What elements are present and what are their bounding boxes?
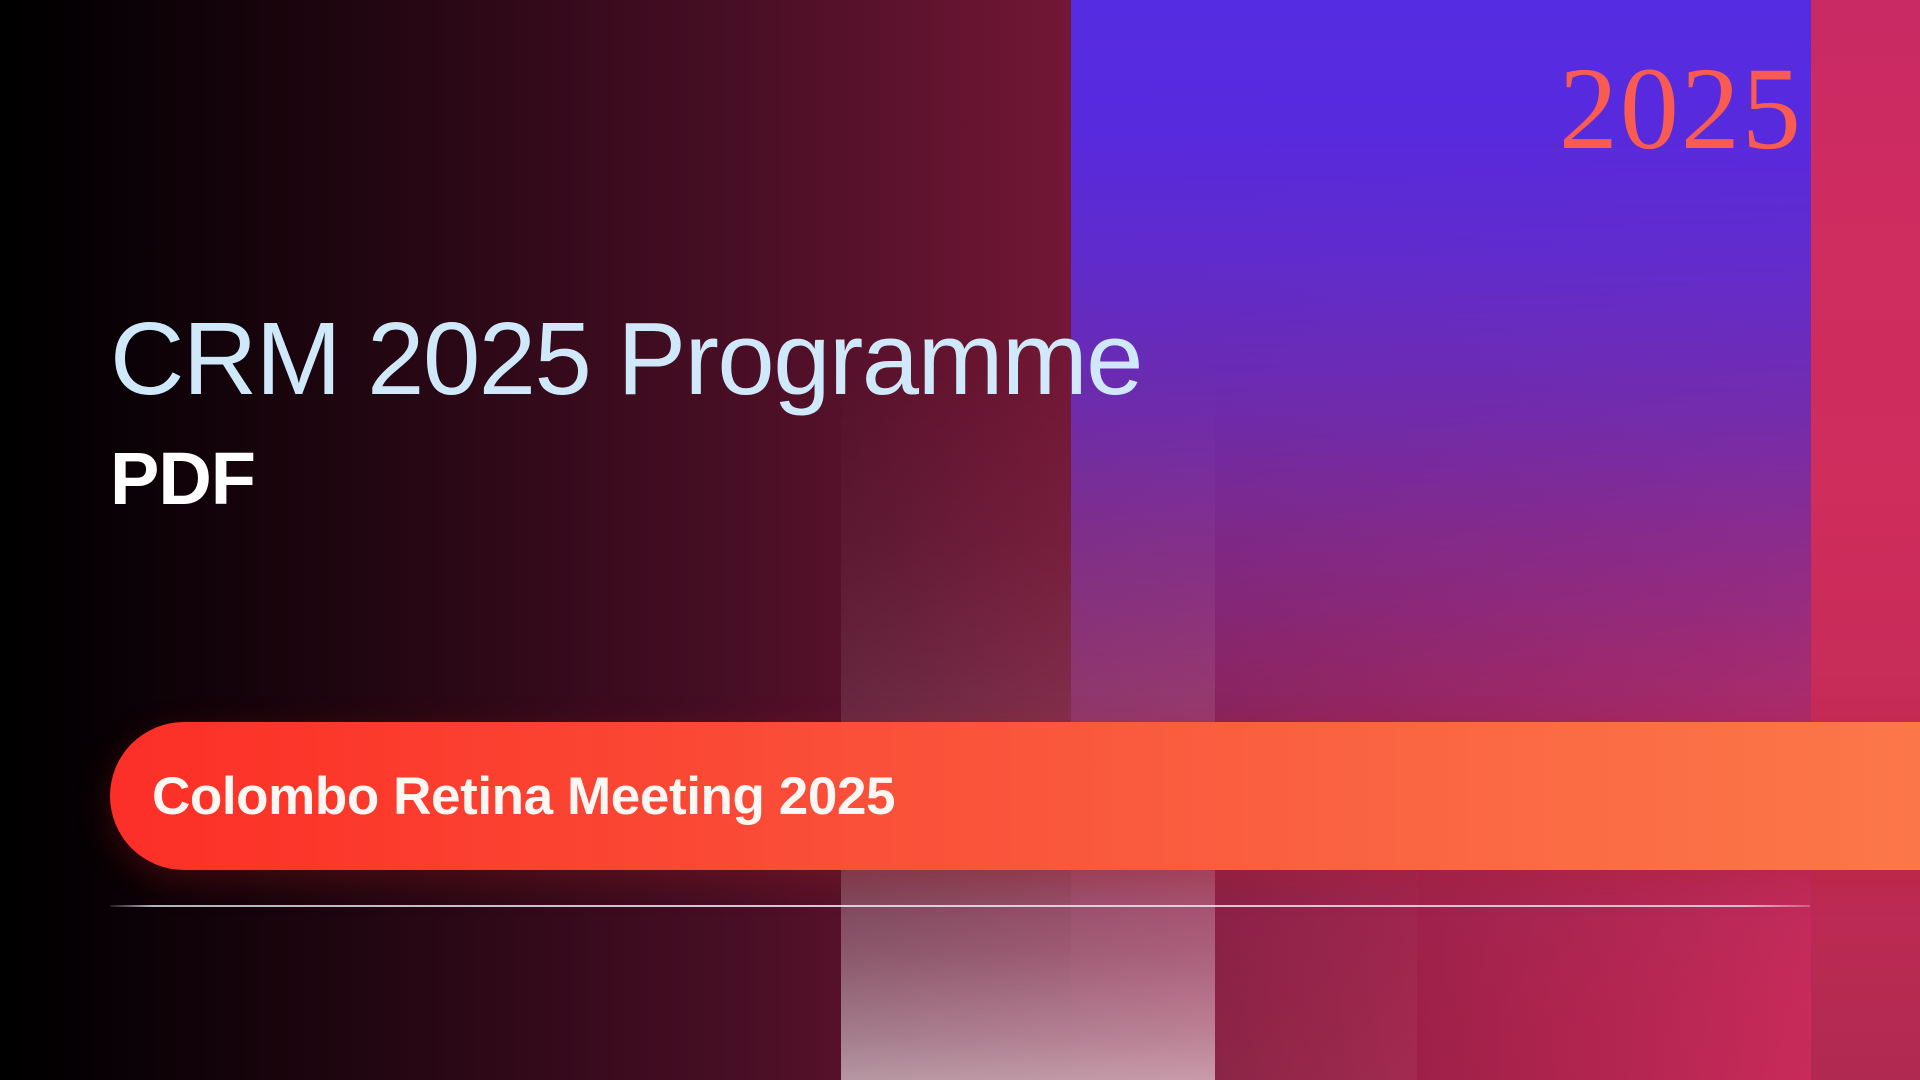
year-mark: 2025 — [1559, 50, 1803, 168]
document-type-label: PDF — [110, 442, 1670, 516]
page-title: CRM 2025 Programme — [110, 305, 1670, 412]
divider-rule — [110, 905, 1810, 907]
title-block: CRM 2025 Programme PDF — [110, 305, 1670, 516]
event-pill-banner[interactable]: Colombo Retina Meeting 2025 — [110, 722, 1920, 870]
event-pill-label: Colombo Retina Meeting 2025 — [110, 766, 895, 827]
promo-card: 2025 CRM 2025 Programme PDF Colombo Reti… — [0, 0, 1920, 1080]
card-content: 2025 CRM 2025 Programme PDF Colombo Reti… — [0, 0, 1920, 1080]
